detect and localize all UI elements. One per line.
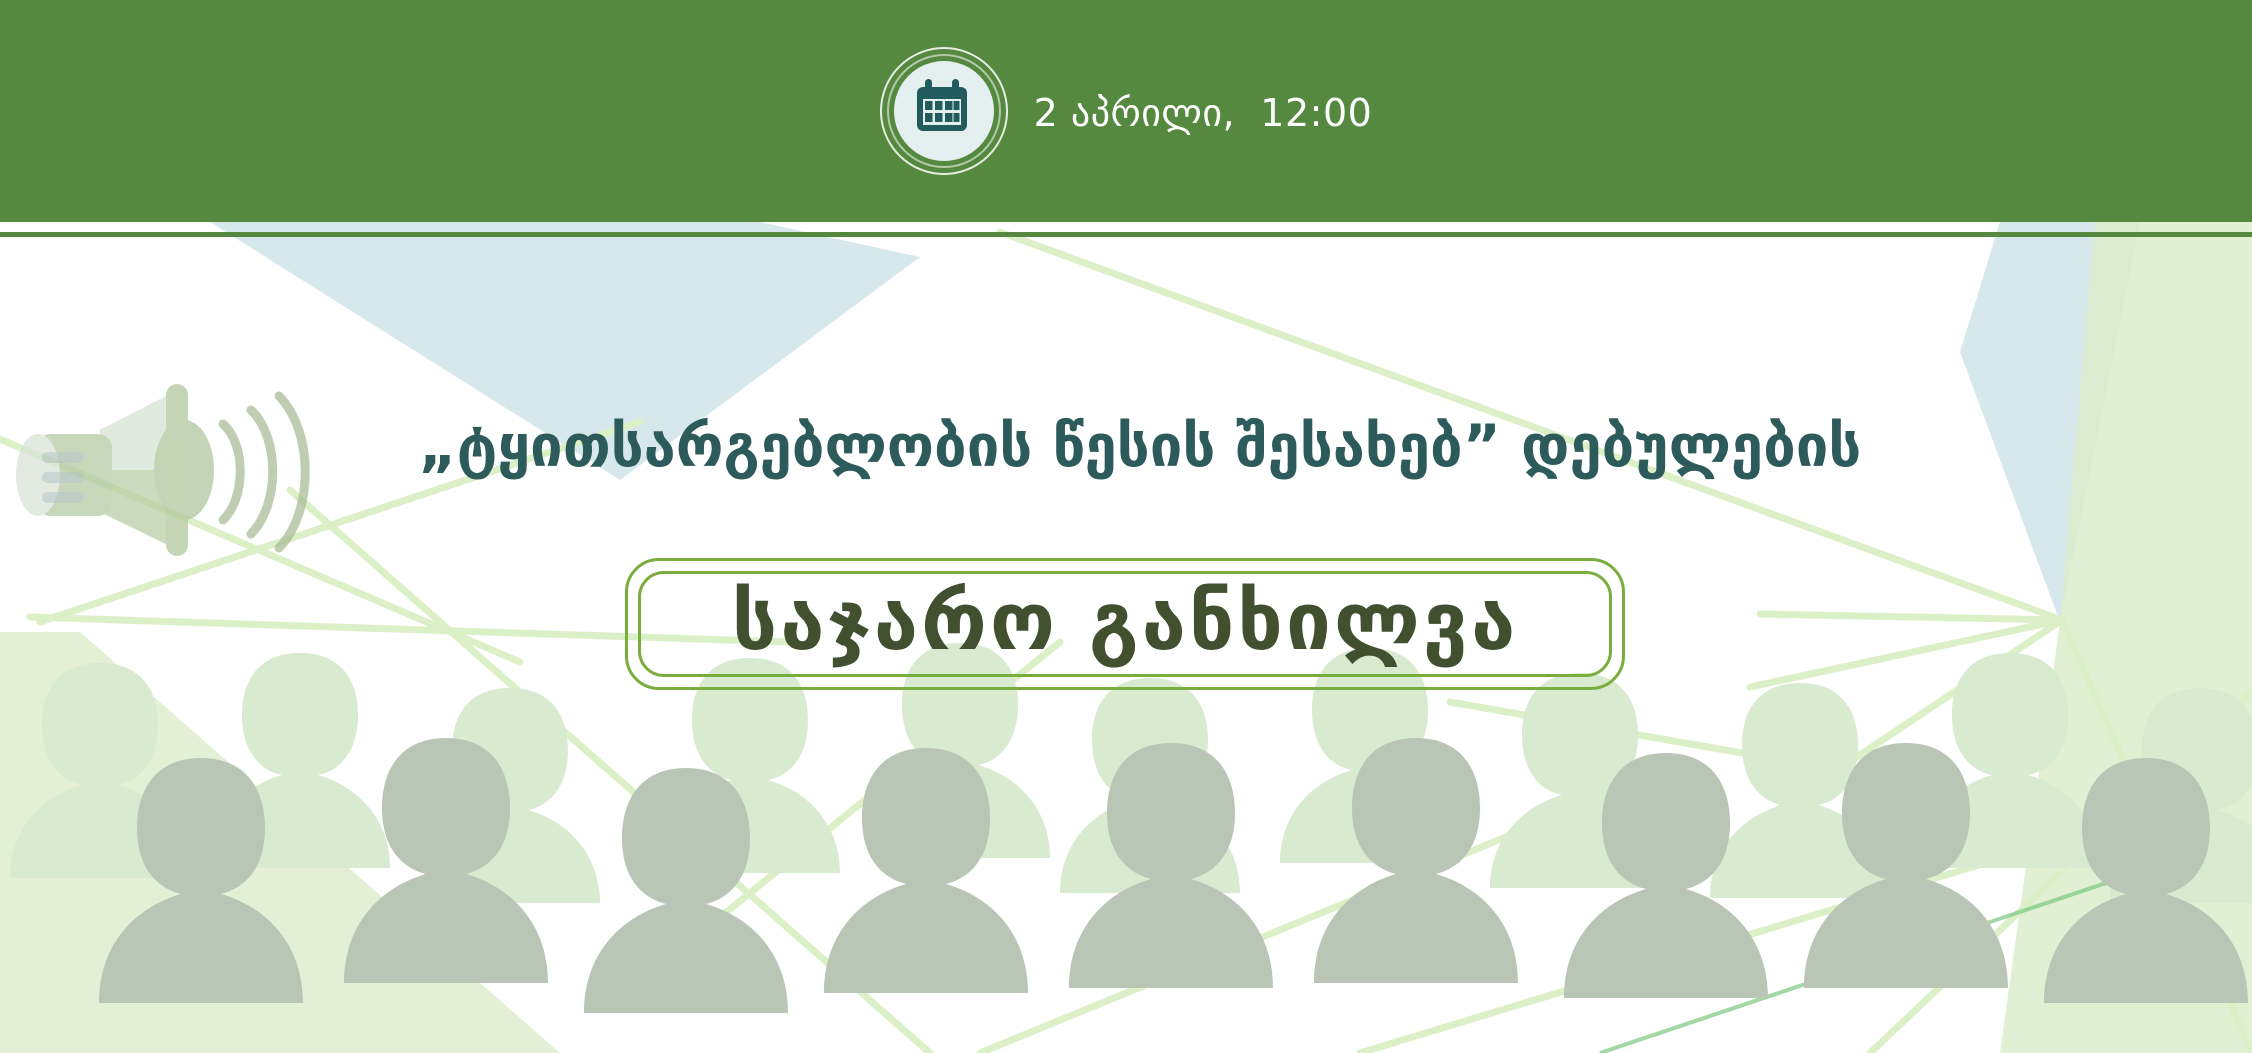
highlight-box-inner: საჯარო განხილვა <box>638 571 1612 677</box>
megaphone-waves <box>223 396 305 548</box>
highlight-box-outer: საჯარო განხილვა <box>625 558 1625 690</box>
megaphone-grip-line-3 <box>42 492 84 503</box>
highlight-label: საჯარო განხილვა <box>732 582 1519 662</box>
header-bar: 2 აპრილი, 12:00 <box>0 0 2252 222</box>
announcement-banner: „ტყითსარგებლობის წესის შესახებ” დებულები… <box>0 0 2252 1053</box>
megaphone-grip-line-1 <box>42 452 84 463</box>
audience-silhouettes <box>0 633 2252 1053</box>
megaphone-grip-line-2 <box>42 472 84 483</box>
calendar-icon <box>880 47 1008 175</box>
page-title: „ტყითსარგებლობის წესის შესახებ” დებულები… <box>330 415 1950 479</box>
megaphone-bar <box>166 384 188 556</box>
event-datetime: 2 აპრილი, 12:00 <box>1034 94 1373 132</box>
megaphone-icon <box>8 372 318 587</box>
header-divider <box>0 232 2252 237</box>
crowd-front-row <box>99 738 2248 1013</box>
header-content: 2 აპრილი, 12:00 <box>0 0 2252 222</box>
